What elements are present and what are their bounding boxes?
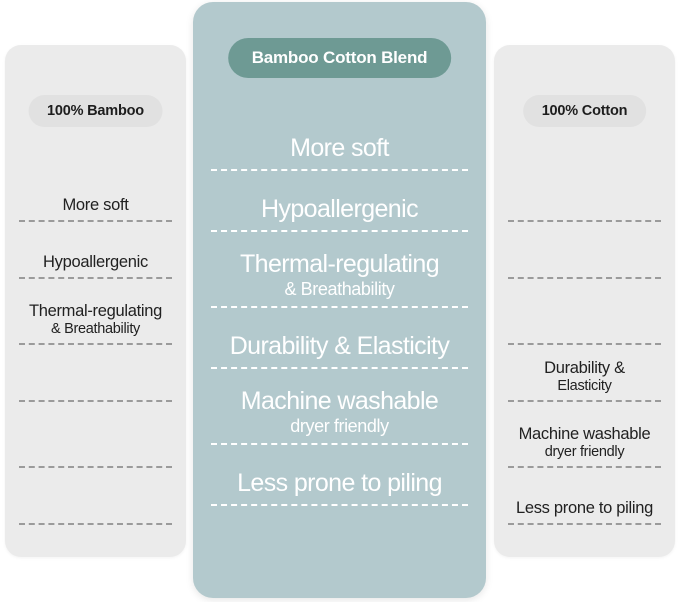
feature-row: Durability & Elasticity: [508, 345, 661, 402]
feature-row-empty: [19, 402, 172, 468]
feature-sublabel: & Breathability: [284, 279, 394, 300]
feature-row: Thermal-regulating & Breathability: [211, 232, 468, 308]
feature-row-empty: [19, 345, 172, 402]
feature-row: Durability & Elasticity: [211, 308, 468, 369]
feature-row: Hypoallergenic: [19, 222, 172, 279]
feature-row: Thermal-regulating & Breathability: [19, 279, 172, 345]
feature-list-cotton: Durability & Elasticity Machine washable…: [494, 165, 675, 525]
feature-row: Less prone to piling: [508, 468, 661, 525]
feature-row: Machine washable dryer friendly: [508, 402, 661, 468]
column-title-blend: Bamboo Cotton Blend: [228, 38, 452, 78]
feature-row: Machine washable dryer friendly: [211, 369, 468, 445]
feature-sublabel: & Breathability: [51, 321, 140, 338]
feature-label: Less prone to piling: [237, 469, 442, 498]
feature-sublabel: dryer friendly: [290, 416, 388, 437]
feature-row-empty: [508, 279, 661, 345]
comparison-column-bamboo: 100% Bamboo More soft Hypoallergenic The…: [5, 45, 186, 557]
feature-row-empty: [508, 165, 661, 222]
comparison-board: 100% Bamboo More soft Hypoallergenic The…: [0, 0, 679, 602]
feature-label: Machine washable: [519, 425, 651, 444]
comparison-column-blend-highlighted: Bamboo Cotton Blend More soft Hypoallerg…: [193, 2, 486, 598]
feature-row-empty: [508, 222, 661, 279]
feature-list-bamboo: More soft Hypoallergenic Thermal-regulat…: [5, 165, 186, 525]
feature-label: Machine washable: [241, 387, 438, 416]
feature-label: Thermal-regulating: [29, 302, 162, 321]
feature-sublabel: Elasticity: [557, 378, 611, 395]
comparison-column-cotton: 100% Cotton Durability & Elasticity Mach…: [494, 45, 675, 557]
feature-row: Hypoallergenic: [211, 171, 468, 232]
feature-label: Hypoallergenic: [261, 195, 418, 224]
feature-row: More soft: [19, 165, 172, 222]
feature-label: Durability & Elasticity: [230, 332, 450, 361]
feature-label: Hypoallergenic: [43, 253, 148, 272]
column-title-bamboo: 100% Bamboo: [28, 95, 163, 127]
feature-row: Less prone to piling: [211, 445, 468, 506]
feature-label: Durability &: [544, 359, 625, 378]
feature-label: Thermal-regulating: [240, 250, 439, 279]
feature-label: Less prone to piling: [516, 499, 653, 518]
feature-row: More soft: [211, 110, 468, 171]
feature-label: More soft: [290, 134, 389, 163]
feature-list-blend: More soft Hypoallergenic Thermal-regulat…: [193, 110, 486, 506]
feature-label: More soft: [62, 196, 128, 215]
feature-row-empty: [19, 468, 172, 525]
column-title-cotton: 100% Cotton: [523, 95, 647, 127]
feature-sublabel: dryer friendly: [545, 444, 625, 461]
